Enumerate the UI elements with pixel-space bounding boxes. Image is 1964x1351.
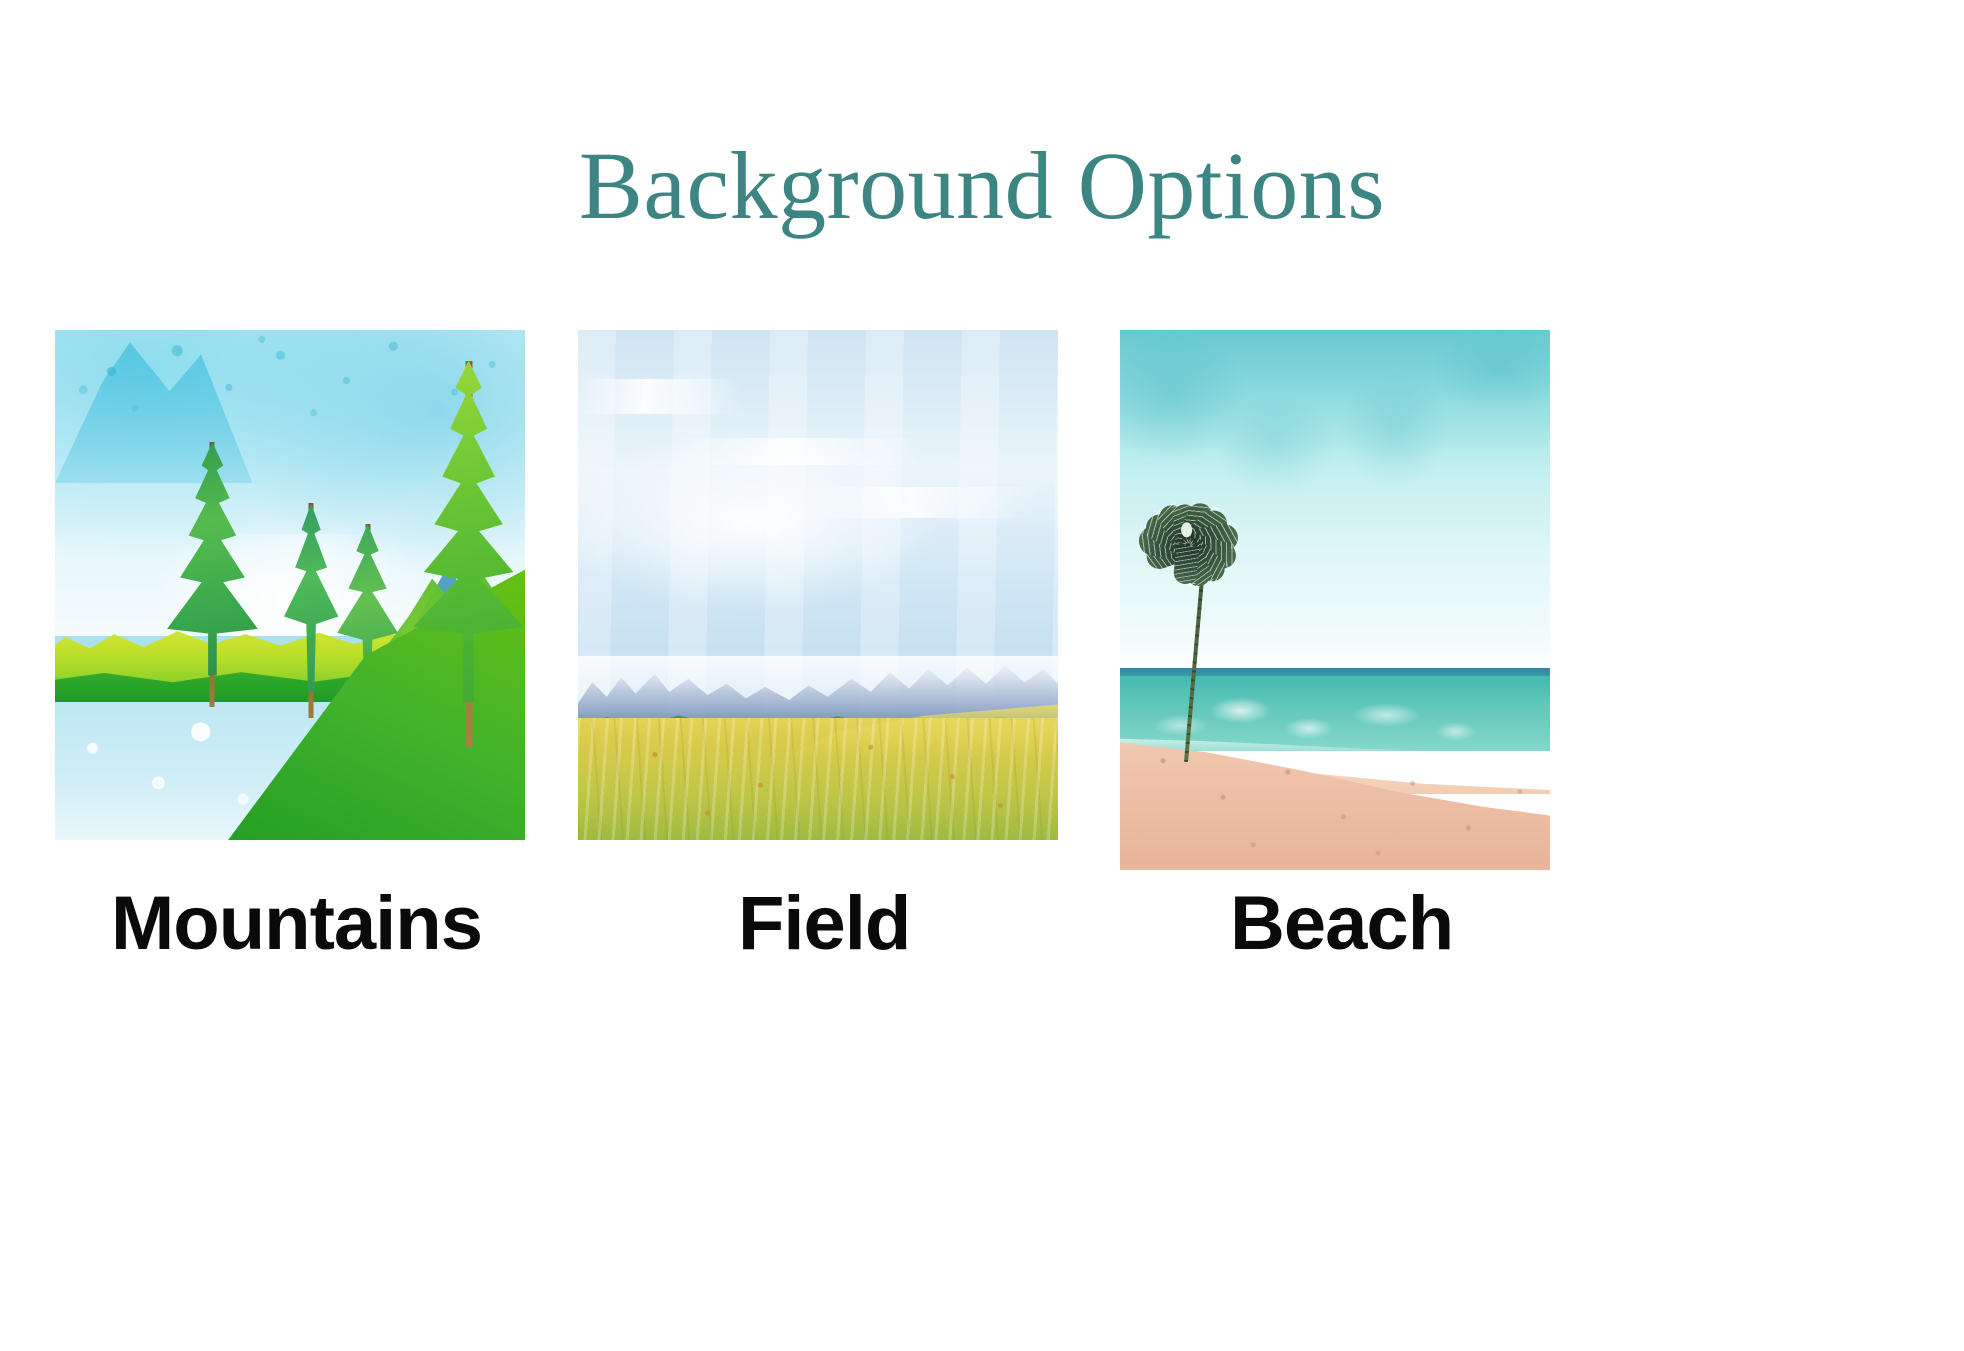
background-option-field[interactable]: Field — [578, 330, 1058, 840]
page-title: Background Options — [0, 136, 1964, 237]
palm-tree-icon — [1142, 460, 1280, 762]
palm-frond — [1173, 545, 1200, 586]
beach-thumbnail[interactable] — [1120, 330, 1550, 870]
mountains-artwork — [55, 330, 525, 840]
field-sky-haze — [578, 401, 1058, 687]
background-options-row: Mountains Field — [0, 330, 1964, 1130]
background-option-beach[interactable]: Beach — [1120, 330, 1550, 870]
beach-artwork — [1120, 330, 1550, 870]
field-thumbnail[interactable] — [578, 330, 1058, 840]
mountains-pine-tree-1 — [158, 442, 266, 707]
option-label-beach: Beach — [1230, 886, 1453, 962]
background-option-mountains[interactable]: Mountains — [55, 330, 525, 840]
option-label-field: Field — [738, 886, 910, 962]
field-artwork — [578, 330, 1058, 840]
pine-foliage — [403, 361, 525, 702]
pine-foliage — [158, 442, 266, 675]
field-specks — [578, 718, 1058, 840]
mountains-pine-tree-4 — [403, 361, 525, 749]
mountains-thumbnail[interactable] — [55, 330, 525, 840]
palm-crown — [1181, 522, 1192, 537]
option-label-mountains: Mountains — [111, 886, 482, 962]
